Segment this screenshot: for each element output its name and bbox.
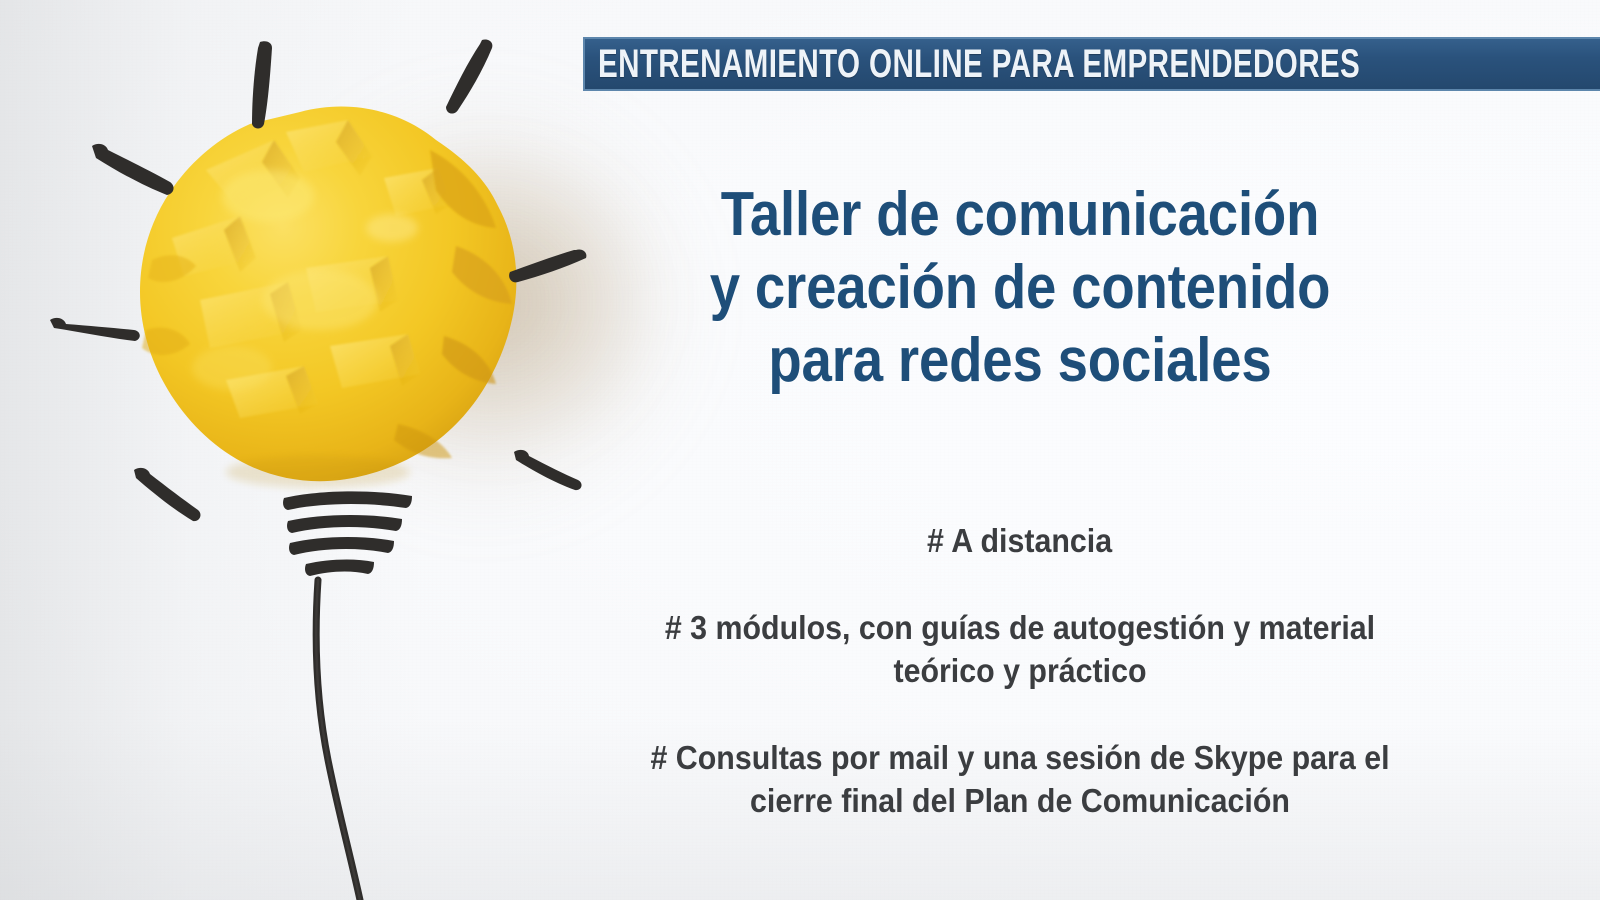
header-banner: ENTRENAMIENTO ONLINE PARA EMPRENDEDORES	[583, 37, 1600, 91]
crumpled-paper-ball	[140, 107, 516, 488]
page-title: Taller de comunicación y creación de con…	[620, 178, 1420, 397]
list-item: # Consultas por mail y una sesión de Sky…	[600, 737, 1440, 823]
list-item: # 3 módulos, con guías de autogestión y …	[600, 607, 1440, 693]
page-title-line-3: para redes sociales	[668, 324, 1372, 397]
promo-poster: ENTRENAMIENTO ONLINE PARA EMPRENDEDORES …	[0, 0, 1600, 900]
page-title-line-2: y creación de contenido	[668, 251, 1372, 324]
lightbulb-illustration	[0, 0, 640, 900]
page-title-line-1: Taller de comunicación	[668, 178, 1372, 251]
list-item-text: # 3 módulos, con guías de autogestión y …	[634, 607, 1407, 693]
header-banner-label: ENTRENAMIENTO ONLINE PARA EMPRENDEDORES	[598, 44, 1360, 84]
lightbulb-cord	[316, 580, 360, 900]
lightbulb-screw-base	[283, 491, 412, 576]
list-item-text: # Consultas por mail y una sesión de Sky…	[634, 737, 1407, 823]
list-item-text: # A distancia	[927, 520, 1112, 563]
list-item: # A distancia	[600, 520, 1440, 563]
feature-list: # A distancia # 3 módulos, con guías de …	[600, 520, 1440, 822]
